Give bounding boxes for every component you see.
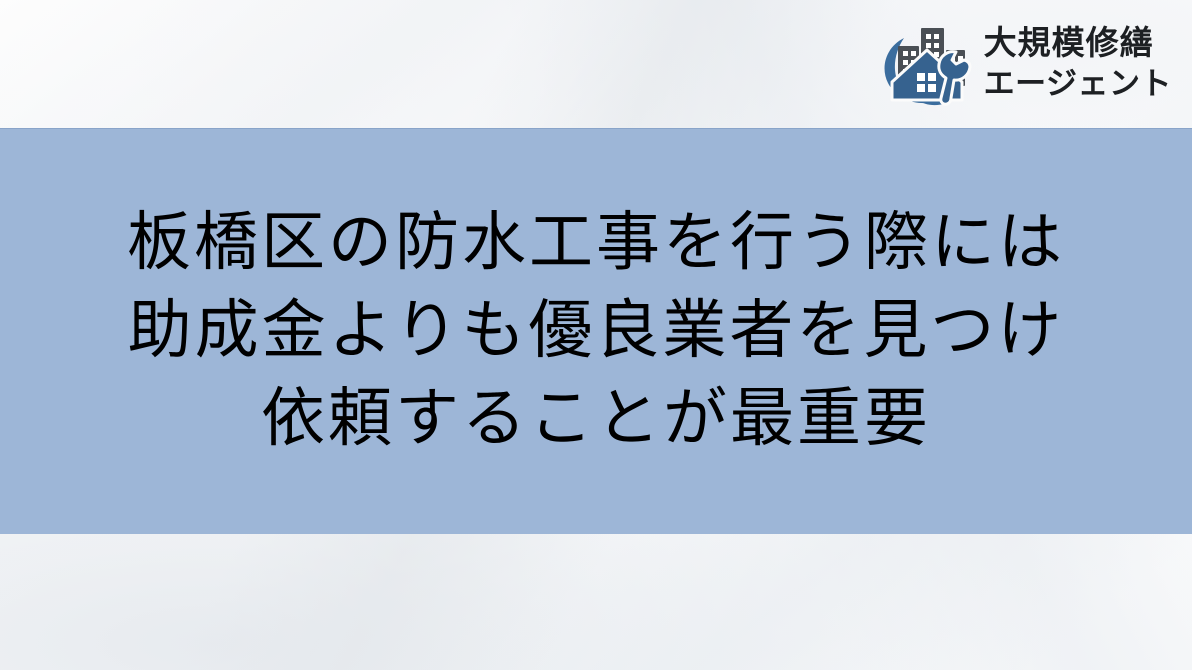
logo-word-line-2: エージェント xyxy=(984,65,1172,103)
logo-wordmark: 大規模修繕 エージェント xyxy=(984,21,1172,103)
building-house-wrench-icon xyxy=(878,16,974,108)
logo-mark xyxy=(878,16,974,108)
headline-banner: 板橋区の防水工事を行う際には 助成金よりも優良業者を見つけ 依頼することが最重要 xyxy=(0,128,1192,534)
headline-line-1: 板橋区の防水工事を行う際には xyxy=(127,199,1065,287)
slide-canvas: 板橋区の防水工事を行う際には 助成金よりも優良業者を見つけ 依頼することが最重要 xyxy=(0,0,1192,670)
headline-line-2: 助成金よりも優良業者を見つけ xyxy=(128,287,1065,375)
headline-line-3: 依頼することが最重要 xyxy=(261,375,931,463)
headline-block: 板橋区の防水工事を行う際には 助成金よりも優良業者を見つけ 依頼することが最重要 xyxy=(0,128,1192,534)
brand-logo: 大規模修繕 エージェント xyxy=(878,16,1172,108)
logo-word-line-1: 大規模修繕 xyxy=(984,23,1172,63)
